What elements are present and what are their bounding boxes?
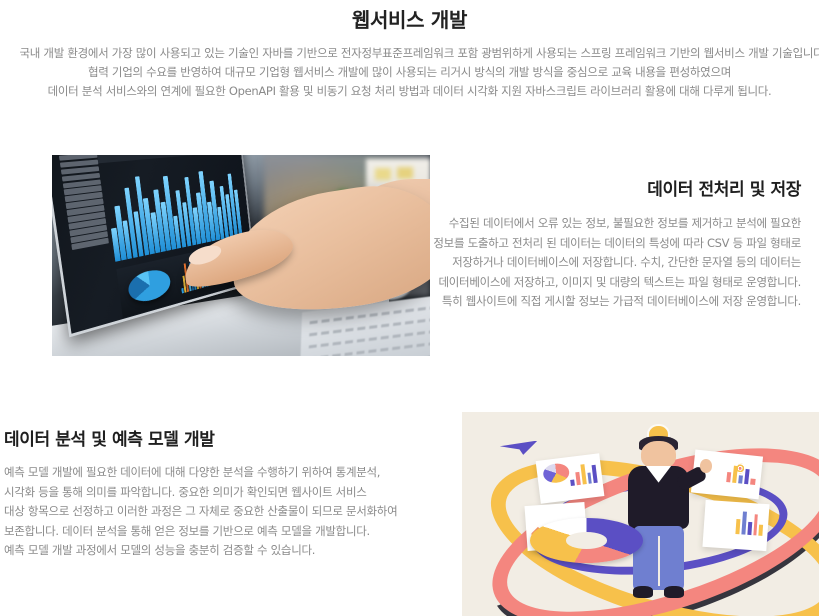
shoe-icon xyxy=(633,586,653,598)
intro-paragraph: 국내 개발 환경에서 가장 많이 사용되고 있는 기술인 자바를 기반으로 전자… xyxy=(20,44,800,101)
analysis-section: 데이터 분석 및 예측 모델 개발 예측 모델 개발에 필요한 데이터에 대해 … xyxy=(4,428,404,561)
preprocessing-section: 데이터 전처리 및 저장 수집된 데이터에서 오류 있는 정보, 불필요한 정보… xyxy=(431,178,801,312)
chart-bar xyxy=(591,465,597,484)
preprocessing-line-3: 저장하거나 데이터베이스에 저장합니다. 수치, 간단한 문자열 등의 데이터는 xyxy=(431,253,801,273)
analysis-title: 데이터 분석 및 예측 모델 개발 xyxy=(4,428,404,452)
analysis-line-1: 예측 모델 개발에 필요한 데이터에 대해 다양한 분석을 수행하기 위하여 통… xyxy=(4,463,404,483)
intro-line-2: 협력 기업의 수요를 반영하여 대규모 기업형 웹서비스 개발에 많이 사용되는… xyxy=(20,63,800,82)
bar-chart-icon xyxy=(726,460,757,485)
preprocessing-line-1: 수집된 데이터에서 오류 있는 정보, 불필요한 정보를 제거하고 분석에 필요… xyxy=(431,214,801,234)
preprocessing-line-5: 특히 웹사이트에 직접 게시할 정보는 가급적 데이터베이스에 저장 운영합니다… xyxy=(431,292,801,312)
chart-bar xyxy=(753,514,758,535)
preprocessing-line-4: 데이터베이스에 저장하고, 이미지 및 대량의 텍스트는 파일 형태로 운영합니… xyxy=(431,273,801,293)
analysis-line-5: 예측 모델 개발 과정에서 모델의 성능을 충분히 검증할 수 있습니다. xyxy=(4,541,404,561)
chart-bar xyxy=(726,472,731,482)
analysis-line-3: 대상 항목으로 선정하고 이러한 과정은 그 자체로 중요한 산출물이 되므로 … xyxy=(4,502,404,522)
chart-bar xyxy=(570,479,575,486)
chart-bar xyxy=(750,478,755,485)
intro-line-1: 국내 개발 환경에서 가장 많이 사용되고 있는 기술인 자바를 기반으로 전자… xyxy=(20,44,800,63)
analyst-figure xyxy=(613,432,704,599)
paper-plane-icon xyxy=(500,441,538,455)
page-title: 웹서비스 개발 xyxy=(0,6,819,34)
chart-bar xyxy=(580,464,586,484)
sticky-note-icon xyxy=(397,167,414,178)
tablet-dashboard-photo xyxy=(52,155,430,356)
chart-bar xyxy=(747,521,752,534)
sticky-note-icon xyxy=(375,168,392,179)
analysis-line-2: 시각화 등을 통해 의미를 파악합니다. 중요한 의미가 확인되면 웹사이트 서… xyxy=(4,483,404,503)
shoe-icon xyxy=(664,586,684,598)
bar-chart-icon xyxy=(735,509,764,535)
preprocessing-paragraph: 수집된 데이터에서 오류 있는 정보, 불필요한 정보를 제거하고 분석에 필요… xyxy=(431,214,801,312)
chart-bar xyxy=(738,475,743,484)
preprocessing-line-2: 정보를 도출하고 전처리 된 데이터는 데이터의 특성에 따라 CSV 등 파일… xyxy=(431,234,801,254)
chart-bar xyxy=(744,469,750,484)
chart-bar xyxy=(759,524,764,535)
chart-card-report xyxy=(702,500,769,551)
pie-chart-icon xyxy=(542,462,570,484)
chart-bar xyxy=(575,472,580,485)
chart-card-pie xyxy=(535,453,604,503)
analysis-paragraph: 예측 모델 개발에 필요한 데이터에 대해 다양한 분석을 수행하기 위하여 통… xyxy=(4,463,404,561)
chart-bar xyxy=(732,466,738,483)
hand-icon xyxy=(700,459,712,472)
intro-line-3: 데이터 분석 서비스와의 연계에 필요한 OpenAPI 활용 및 비동기 요청… xyxy=(20,82,800,101)
preprocessing-title: 데이터 전처리 및 저장 xyxy=(431,178,801,202)
analysis-line-4: 보존합니다. 데이터 분석을 통해 얻은 정보를 기반으로 예측 모델을 개발합… xyxy=(4,522,404,542)
leg-gap xyxy=(658,536,661,586)
chart-bar xyxy=(741,511,746,534)
analytics-illustration xyxy=(462,412,819,616)
donut-chart-icon xyxy=(530,518,643,563)
intro-section: 웹서비스 개발 국내 개발 환경에서 가장 많이 사용되고 있는 기술인 자바를… xyxy=(0,0,819,101)
bar-chart-icon xyxy=(568,461,597,486)
head xyxy=(641,441,675,469)
chart-bar xyxy=(587,472,592,484)
dashboard-pie-chart xyxy=(126,266,171,306)
chart-bar xyxy=(735,519,740,534)
